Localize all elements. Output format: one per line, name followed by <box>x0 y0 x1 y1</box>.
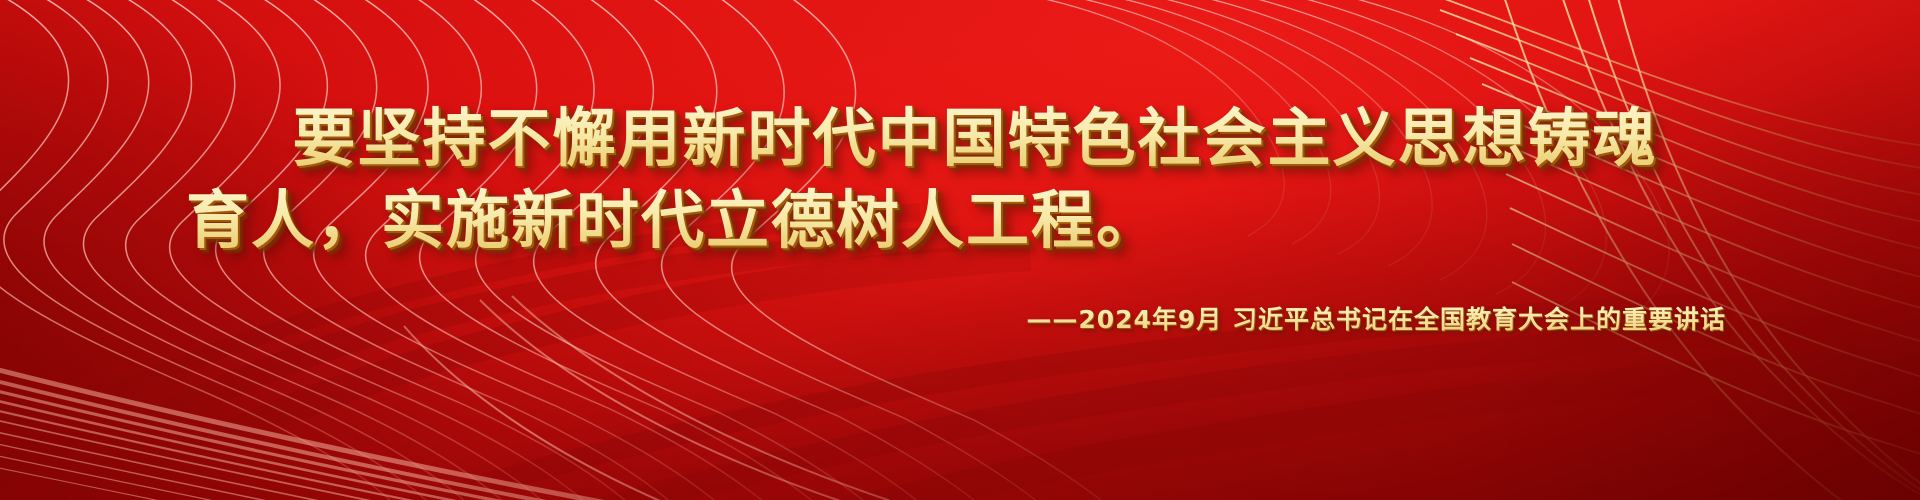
headline-block: 要坚持不懈用新时代中国特色社会主义思想铸魂 育人，实施新时代立德树人工程。 <box>0 103 1920 257</box>
quote-banner: 要坚持不懈用新时代中国特色社会主义思想铸魂 育人，实施新时代立德树人工程。 ——… <box>0 0 1920 500</box>
headline-line-2: 育人，实施新时代立德树人工程。 <box>180 185 1770 257</box>
quote-attribution: ——2024年9月 习近平总书记在全国教育大会上的重要讲话 <box>0 303 1920 337</box>
banner-content: 要坚持不懈用新时代中国特色社会主义思想铸魂 育人，实施新时代立德树人工程。 ——… <box>0 0 1920 500</box>
headline-line-1: 要坚持不懈用新时代中国特色社会主义思想铸魂 <box>180 103 1770 175</box>
